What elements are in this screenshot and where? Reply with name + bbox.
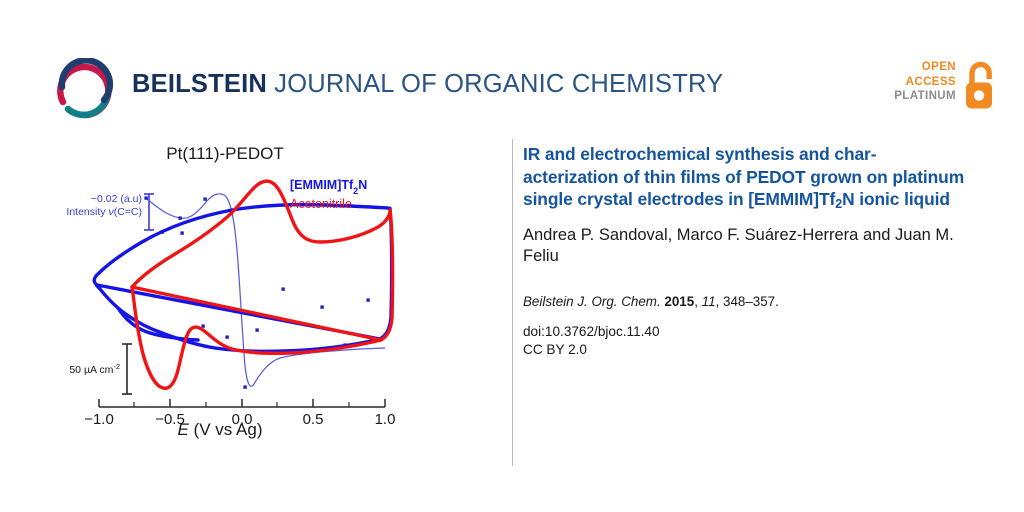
cyclic-voltammogram-chart: −1.0 −0.5 0.0 0.5 1.0 −0.02 (a.u) Intens… [0,132,512,432]
cv-curve-acetonitrile [132,181,393,388]
article-title: IR and electrochemical synthesis and cha… [523,143,993,213]
x-axis-units: (V vs Ag) [189,420,263,439]
current-density-scalebar [122,344,132,394]
svg-text:50 µA cm-2: 50 µA cm-2 [69,362,120,377]
beilstein-logo-icon [52,58,118,124]
ir-scale-caption: Intensity ν(C=C) [66,206,142,218]
article-authors: Andrea P. Sandoval, Marco F. Suárez-Herr… [523,225,993,269]
open-access-badge: OPEN ACCESS PLATINUM [888,60,1000,122]
ir-scalebar-label: −0.02 (a.u) Intensity ν(C=C) [66,193,142,218]
journal-masthead: BEILSTEIN JOURNAL OF ORGANIC CHEMISTRY O… [0,0,1024,132]
article-license: CC BY 2.0 [523,342,993,357]
citation-volume: 11 [702,294,716,309]
citation-separator: , [694,294,701,309]
citation-pages: , 348–357. [716,294,779,309]
open-access-line-open: OPEN [894,60,956,75]
open-access-line-access: ACCESS [894,75,956,90]
open-access-label: OPEN ACCESS PLATINUM [894,60,956,104]
citation-journal: Beilstein J. Org. Chem. [523,294,664,309]
article-doi[interactable]: doi:10.3762/bjoc.11.40 [523,324,993,339]
article-metadata: IR and electrochemical synthesis and cha… [523,143,993,357]
open-lock-icon [962,60,1000,114]
wordmark-subtitle: JOURNAL OF ORGANIC CHEMISTRY [267,70,723,98]
current-scalebar-label: 50 µA cm-2 [69,362,120,377]
vertical-divider [512,139,513,466]
ir-scale-value: −0.02 (a.u) [91,193,142,205]
citation-year: 2015 [664,294,694,309]
x-axis-label: E (V vs Ag) [0,420,440,440]
open-access-line-platinum: PLATINUM [894,89,956,104]
x-axis [99,399,385,407]
article-title-part2: N ionic liquid [842,189,950,209]
journal-title-wordmark: BEILSTEIN JOURNAL OF ORGANIC CHEMISTRY [132,70,723,99]
x-axis-symbol: E [177,420,188,439]
article-citation: Beilstein J. Org. Chem. 2015, 11, 348–35… [523,294,993,309]
figure-panel: Pt(111)-PEDOT [0,132,512,472]
legend-item-acetonitrile: Acetonitrile [290,197,352,211]
wordmark-beilstein: BEILSTEIN [132,70,267,98]
article-cover-page: BEILSTEIN JOURNAL OF ORGANIC CHEMISTRY O… [0,0,1024,512]
legend-item-emmim: [EMMIM]Tf2N [290,178,367,196]
